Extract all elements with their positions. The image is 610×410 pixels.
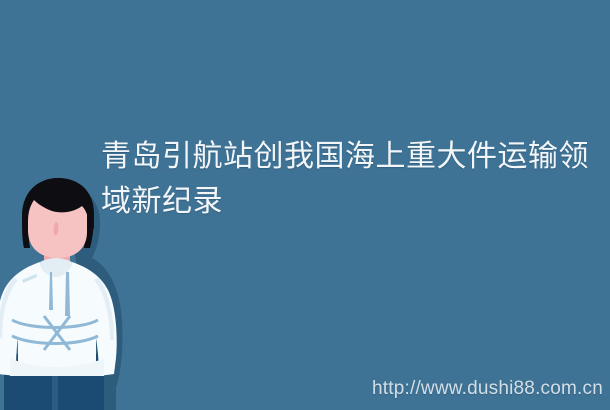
headline-text: 青岛引航站创我国海上重大件运输领域新纪录: [101, 134, 601, 224]
watermark-url: http://www.dushi88.com.cn: [372, 379, 603, 399]
article-thumbnail-banner: 青岛引航站创我国海上重大件运输领域新纪录 http://www.dushi88.…: [0, 0, 610, 410]
